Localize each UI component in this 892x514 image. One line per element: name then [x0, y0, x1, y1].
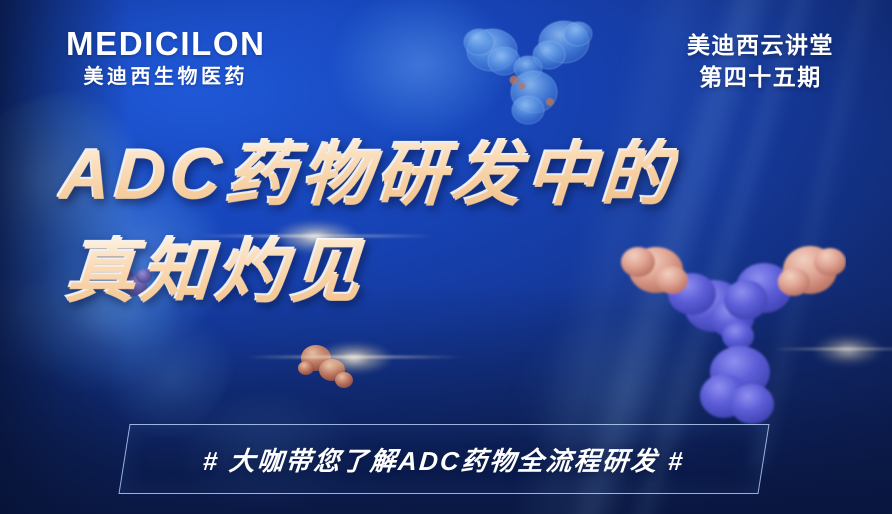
tagline-text: # 大咖带您了解ADC药物全流程研发 #	[121, 424, 767, 494]
series-label: 美迪西云讲堂 第四十五期	[687, 30, 834, 93]
title-line-2: 真知灼见	[64, 237, 680, 308]
series-episode: 第四十五期	[687, 62, 834, 94]
company-logo: MEDICILON 美迪西生物医药	[66, 27, 266, 87]
title-line-1: ADC药物研发中的	[58, 140, 680, 211]
tagline-banner: # 大咖带您了解ADC药物全流程研发 #	[124, 424, 764, 494]
page-title: ADC药物研发中的 真知灼见	[60, 140, 677, 309]
webinar-banner: MEDICILON 美迪西生物医药 美迪西云讲堂 第四十五期 ADC药物研发中的…	[0, 0, 892, 514]
logo-chinese-subtitle: 美迪西生物医药	[66, 67, 266, 87]
logo-wordmark: MEDICILON	[66, 27, 266, 60]
series-name: 美迪西云讲堂	[687, 30, 834, 62]
